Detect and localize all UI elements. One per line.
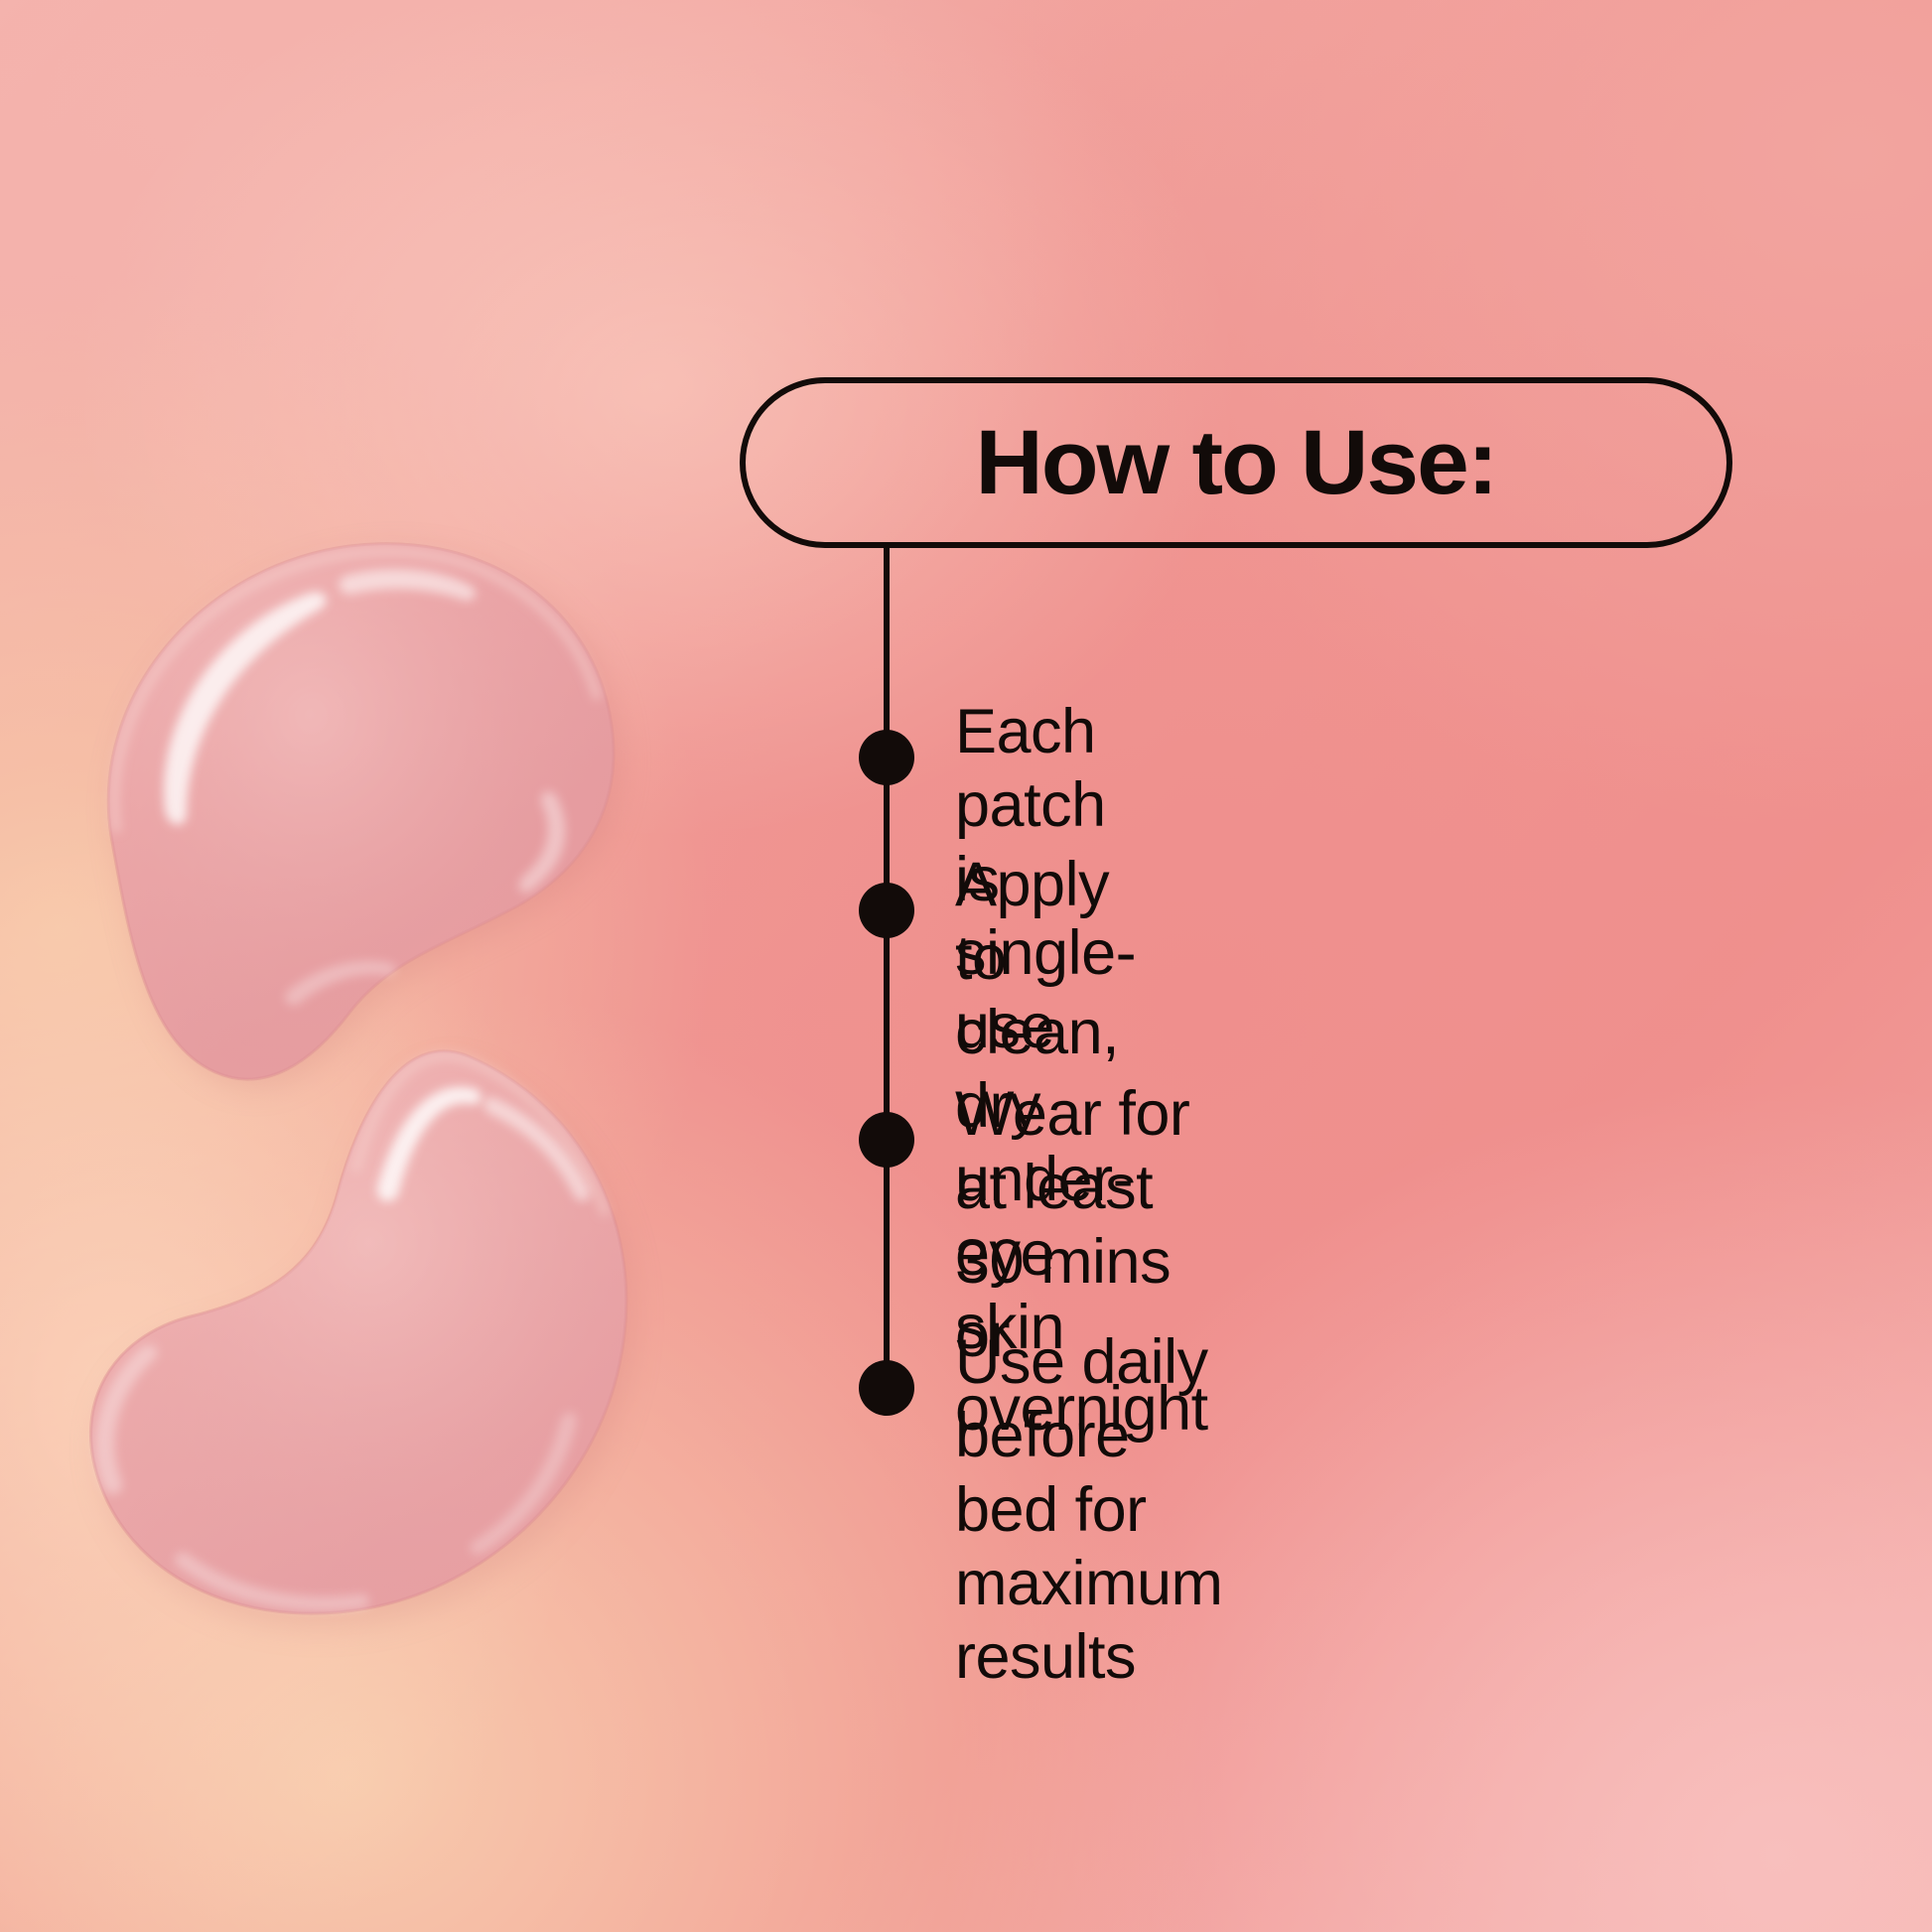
step-text: Use daily before bed for maximum results bbox=[955, 1325, 1223, 1695]
promo-card: How to Use: Each patch is single-use App… bbox=[0, 0, 1932, 1932]
bullet-dot-icon bbox=[859, 1360, 914, 1416]
bullet-dot-icon bbox=[859, 730, 914, 785]
instructions-panel: How to Use: Each patch is single-use App… bbox=[735, 367, 1827, 1559]
bullet-dot-icon bbox=[859, 883, 914, 938]
timeline-connector-line bbox=[884, 548, 890, 1406]
title-pill: How to Use: bbox=[740, 377, 1732, 548]
bullet-dot-icon bbox=[859, 1112, 914, 1168]
gel-eye-patch-lower bbox=[60, 1013, 705, 1668]
page-title: How to Use: bbox=[976, 417, 1497, 508]
